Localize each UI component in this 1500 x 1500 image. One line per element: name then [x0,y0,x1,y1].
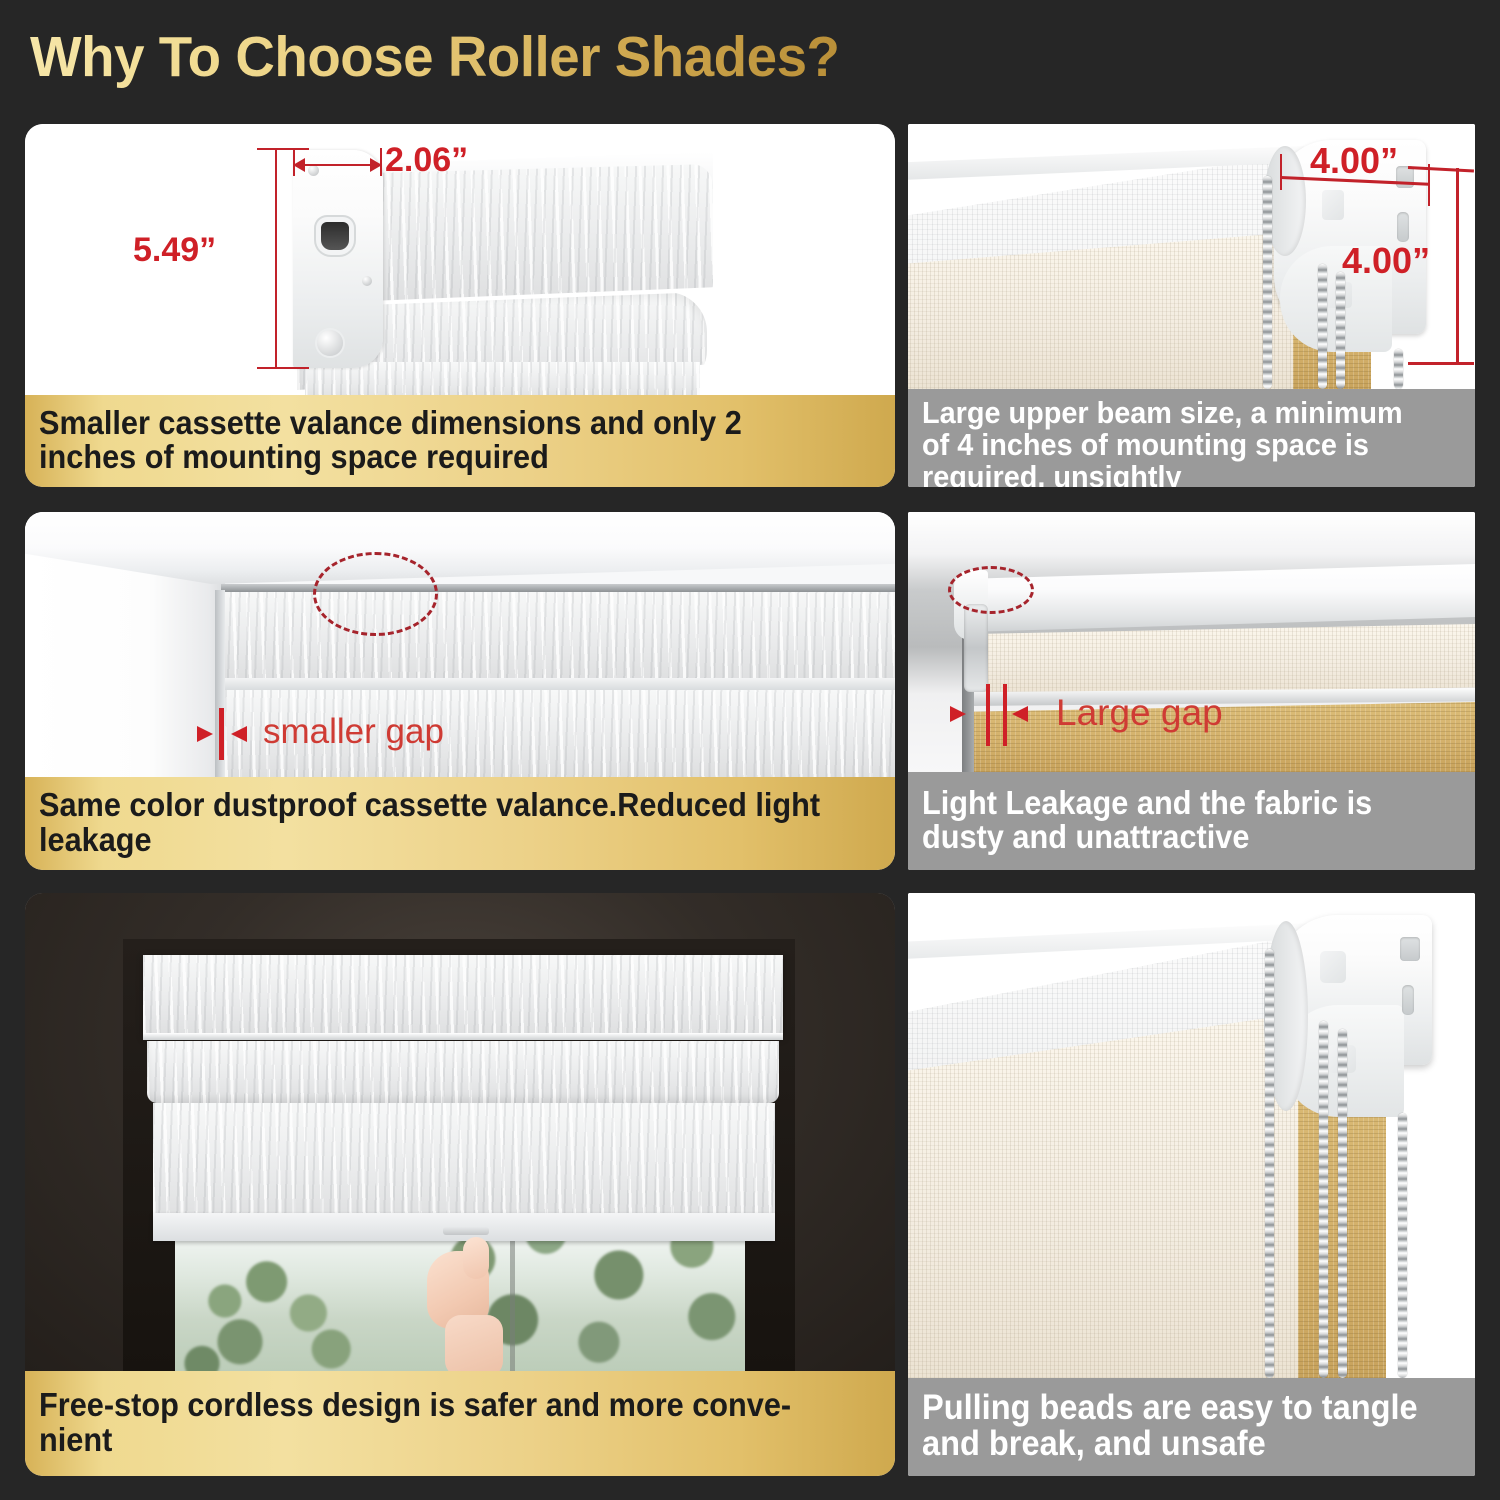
page-title: Why To Choose Roller Shades? [30,24,839,90]
dim-arrow-206-right [370,158,382,172]
bead-chain-tail [1394,349,1403,389]
cassette-valance-top [143,955,783,1037]
bead-chain-mid [1318,264,1327,389]
dim-tick-549-top [257,148,309,150]
hand-pulling-shade [419,1231,515,1371]
hand-thumb [463,1237,489,1279]
panel-light-leakage-dusty-fabric: Large gap Light Leakage and the fabric i… [908,512,1475,870]
panel-6-photo [908,893,1475,1378]
gap-label-large: Large gap [1056,692,1223,734]
dim-tick-400v-bottom [1408,362,1474,365]
tree-foliage-left [183,1253,373,1371]
mounting-screw-middle [362,276,372,286]
highlight-ellipse-large-gap [948,566,1034,614]
infographic-root: Why To Choose Roller Shades? [0,0,1500,1500]
bead-chain-back [1336,272,1345,389]
gap-arrow-right [231,726,247,742]
panel-5-caption-line2: nient [39,1423,881,1457]
panel-4-caption: Light Leakage and the fabric is dusty an… [908,772,1475,870]
gap-label-smaller: smaller gap [263,712,444,752]
panel-2-photo: 4.00” 4.00” [908,124,1475,389]
bracket-slot-top-2 [1400,937,1420,961]
large-gap-arrow-left [950,706,966,722]
panel-4-photo: Large gap [908,512,1475,772]
cream-fabric-sheet [908,1013,1302,1378]
gap-marker-line-left [986,684,990,746]
window-frame-top [25,512,895,584]
dim-arrow-206-left [293,158,305,172]
gap-marker-line [219,708,224,760]
panel-dustproof-cassette-valance: smaller gap Same color dustproof cassett… [25,512,895,870]
panel-5-caption: Free-stop cordless design is safer and m… [25,1371,895,1476]
clutch-mechanism [964,604,988,692]
cream-fabric-band [968,624,1475,696]
panel-3-photo: smaller gap [25,512,895,777]
pull-bead-chain-1 [1265,949,1274,1378]
dimension-label-5-49: 5.49” [133,231,216,270]
panel-1-photo: 2.06” 5.49” [25,124,895,395]
panel-pulling-beads-unsafe: Pulling beads are easy to tangle and bre… [908,893,1475,1476]
bottom-pin [317,330,343,356]
clutch-slot [321,222,349,250]
panel-1-caption-text: Smaller cassette valance dimensions and … [39,406,822,475]
dimension-label-2-06: 2.06” [385,141,468,180]
bracket-emboss-upper-2 [1320,951,1346,983]
panel-3-caption: Same color dustproof cassette valance.Re… [25,777,895,870]
panel-5-caption-line1: Free-stop cordless design is safer and m… [39,1388,881,1422]
large-gap-arrow-right [1012,706,1028,722]
panel-large-upper-beam: 4.00” 4.00” Large upper beam size, a min… [908,124,1475,487]
panel-4-caption-text: Light Leakage and the fabric is dusty an… [922,786,1423,855]
valance-seam [143,1033,783,1040]
bracket-emboss-upper [1322,190,1344,220]
bead-chain-front [1263,176,1272,389]
panel-6-caption-text: Pulling beads are easy to tangle and bre… [922,1390,1423,1463]
panel-2-caption: Large upper beam size, a minimum of 4 in… [908,389,1475,487]
pull-bead-chain-2 [1319,1021,1328,1378]
bracket-slot-bottom-2 [1402,985,1414,1015]
panel-free-stop-cordless-design: Free-stop cordless design is safer and m… [25,893,895,1476]
highlight-ellipse-smaller-gap [313,552,438,636]
dimension-label-4-00-horizontal: 4.00” [1310,140,1398,182]
bracket-slot-bottom [1397,212,1409,242]
valance-bottom-edge [221,678,895,690]
dim-line-206 [295,164,381,166]
mounting-screw-top [308,165,319,176]
panel-3-caption-text: Same color dustproof cassette valance.Re… [39,788,822,857]
panel-1-caption: Smaller cassette valance dimensions and … [25,395,895,487]
dimension-label-4-00-vertical: 4.00” [1342,240,1430,282]
gap-arrow-left [197,726,213,742]
main-shade-fabric [153,1103,775,1223]
dim-tick-549-bottom [257,367,309,369]
pull-bead-chain-4 [1398,1113,1407,1378]
dim-line-400v [1456,168,1459,364]
pull-bead-chain-3 [1338,1029,1347,1378]
panel-5-photo [25,893,895,1371]
panel-2-caption-text: Large upper beam size, a minimum of 4 in… [922,397,1423,487]
gap-marker-line-right [1003,684,1007,746]
hand-forearm [445,1315,503,1371]
panel-smaller-cassette-valance: 2.06” 5.49” Smaller cassette valance dim… [25,124,895,487]
dim-tick-400h-left [1280,154,1282,190]
shade-fabric [305,362,700,395]
dim-line-549 [275,150,277,368]
roller-tube-band [147,1041,779,1103]
panel-6-caption: Pulling beads are easy to tangle and bre… [908,1378,1475,1476]
